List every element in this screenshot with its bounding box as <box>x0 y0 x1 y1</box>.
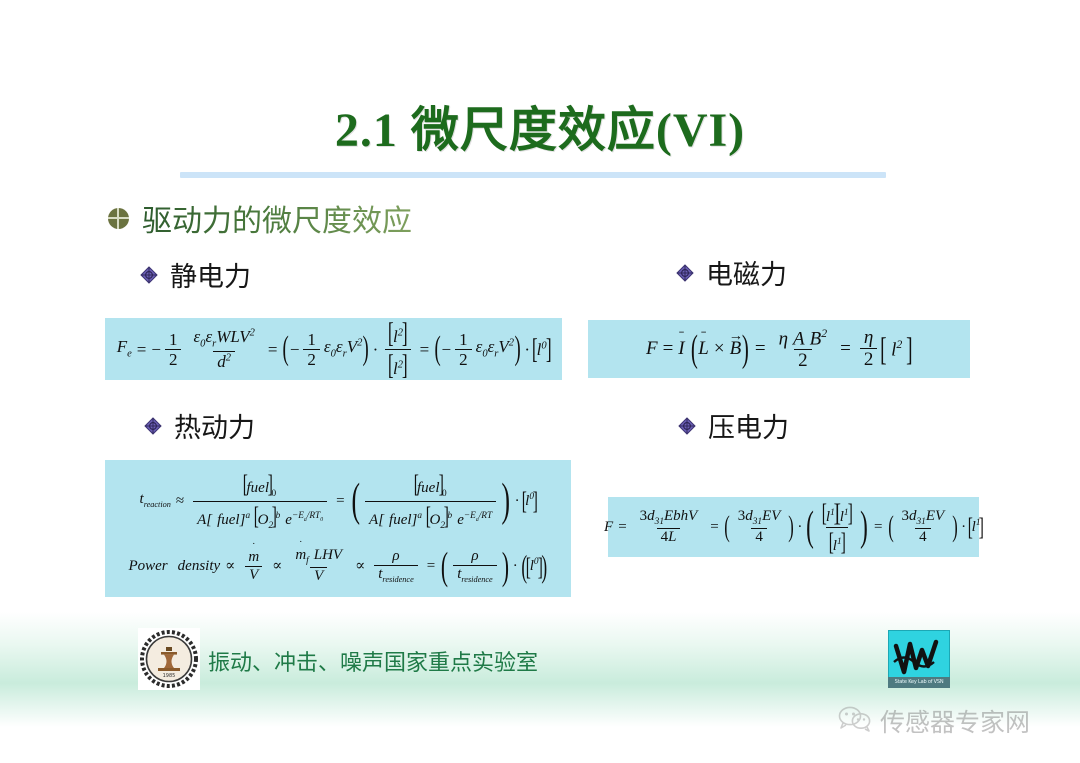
lab-emblem-logo <box>888 630 950 684</box>
subheading-electrostatic-label: 静电力 <box>170 255 251 294</box>
disc-bullet-icon <box>108 208 129 229</box>
subheading-piezoelectric-label: 压电力 <box>708 406 789 445</box>
section-heading-label: 驱动力的微尺度效应 <box>142 196 412 240</box>
subheading-electromagnetic-label: 电磁力 <box>706 253 787 292</box>
formula-electrostatic-math: Fe=− 12 ε0εrWLV2 d2 = ( − 12 ε0εrV2 ) · … <box>117 319 551 380</box>
formula-box-electrostatic: Fe=− 12 ε0εrWLV2 d2 = ( − 12 ε0εrV2 ) · … <box>105 318 562 380</box>
formula-box-piezoelectric: F= 3d31EbhV 4L = ( 3d31EV 4 ) · ( [l1][l… <box>608 497 979 557</box>
seal-year-text: 1985 <box>163 673 176 679</box>
wechat-icon <box>838 706 872 737</box>
diamond-bullet-icon <box>144 417 162 435</box>
diamond-bullet-icon <box>676 264 694 282</box>
formula-electromagnetic-math: F= Ī ( L̄ × B→ ) = ηAB2 2 = η2 [l2] <box>646 328 912 370</box>
page-title: 2.1 微尺度效应(VI) <box>0 90 1080 160</box>
lab-emblem-caption: State Key Lab of VSN <box>888 677 950 688</box>
subheading-electrostatic: 静电力 <box>140 255 251 294</box>
university-seal-logo: 1985 <box>138 628 200 690</box>
formula-piezoelectric-math: F= 3d31EbhV 4L = ( 3d31EV 4 ) · ( [l1][l… <box>604 500 983 554</box>
section-heading-driving-force: 驱动力的微尺度效应 <box>108 196 412 240</box>
formula-box-thermodynamic: treaction ≈ [fuel]0 A[fuel]a[O2]be−Ea/RT… <box>105 460 571 597</box>
subheading-piezoelectric: 压电力 <box>678 406 789 445</box>
formula-thermodynamic-line1: treaction ≈ [fuel]0 A[fuel]a[O2]be−Ea/RT… <box>140 471 537 531</box>
diamond-bullet-icon <box>678 417 696 435</box>
watermark: 传感器专家网 <box>838 703 1030 739</box>
subheading-thermodynamic: 热动力 <box>144 406 255 445</box>
formula-box-electromagnetic: F= Ī ( L̄ × B→ ) = ηAB2 2 = η2 [l2] <box>588 320 970 378</box>
diamond-bullet-icon <box>140 266 158 284</box>
footer-lab-name: 振动、冲击、噪声国家重点实验室 <box>208 645 538 677</box>
slide-canvas: 2.1 微尺度效应(VI) 驱动力的微尺度效应 静电力 电磁力 <box>0 0 1080 763</box>
subheading-thermodynamic-label: 热动力 <box>174 406 255 445</box>
watermark-text: 传感器专家网 <box>880 703 1030 739</box>
subheading-electromagnetic: 电磁力 <box>676 253 787 292</box>
title-underline-rule <box>180 172 886 178</box>
formula-thermodynamic-line2: Powerdensity ∝ m˙ V ∝ m˙fLHV V ∝ ρ tresi… <box>128 547 547 586</box>
